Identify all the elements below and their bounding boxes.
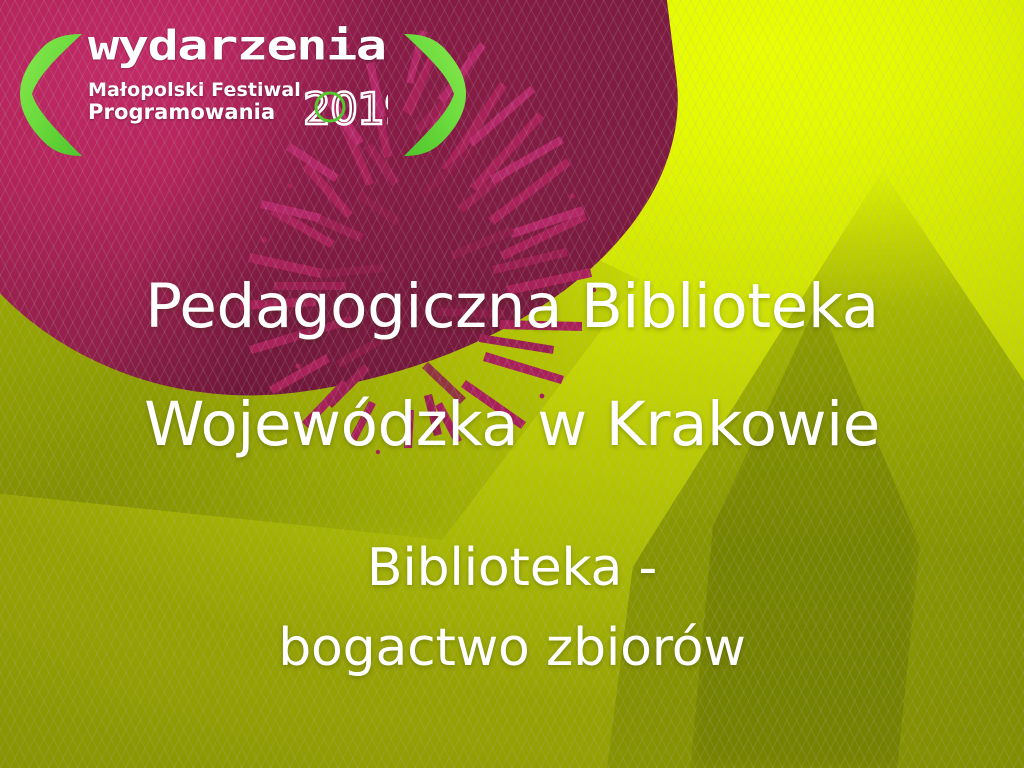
chevron-left-icon <box>20 32 94 158</box>
headline-line-1: Pedagogiczna Biblioteka <box>0 248 1024 366</box>
wordmark-wydarzenia: wydarzenia <box>88 24 400 67</box>
slide-headline: Pedagogiczna Biblioteka Wojewódzka w Kra… <box>0 248 1024 484</box>
subtitle-line-1: Biblioteka - <box>0 528 1024 608</box>
headline-line-2: Wojewódzka w Krakowie <box>0 366 1024 484</box>
subtitle-line-2: bogactwo zbiorów <box>0 608 1024 688</box>
presentation-slide: wydarzenia Małopolski Festiwal Programow… <box>0 0 1024 768</box>
logo-wordmark-group: wydarzenia Małopolski Festiwal Programow… <box>88 24 388 124</box>
logo-year-2019: 2019 <box>302 82 388 136</box>
chevron-right-icon <box>392 32 466 158</box>
logo-subtitle-group: Małopolski Festiwal Programowania 2019 <box>88 80 388 124</box>
slide-subtitle: Biblioteka - bogactwo zbiorów <box>0 528 1024 688</box>
festival-logo: wydarzenia Małopolski Festiwal Programow… <box>6 14 450 166</box>
